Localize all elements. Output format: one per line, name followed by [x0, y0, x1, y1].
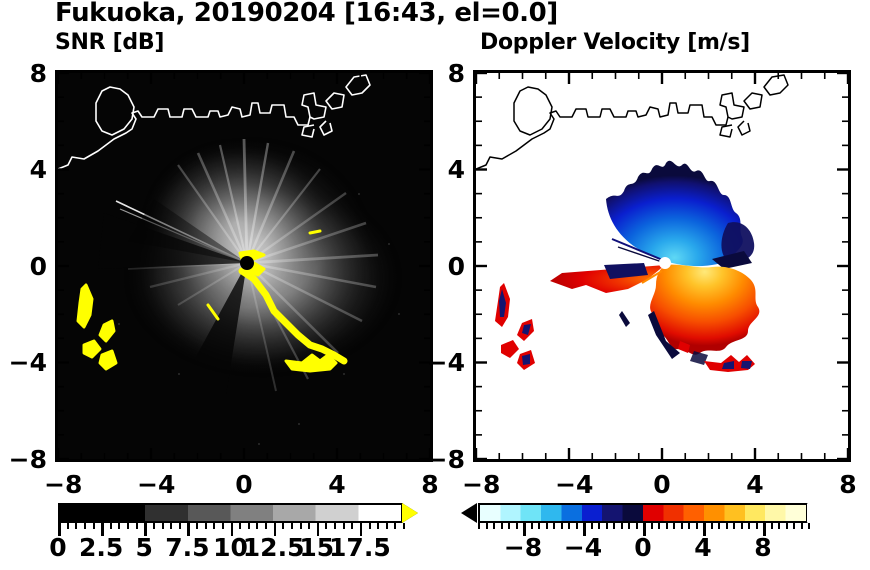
cb-minor-tick	[222, 523, 224, 529]
y-tick-doppler-−8: −8	[427, 445, 465, 474]
cb-minor-tick	[748, 523, 750, 529]
cb-minor-tick	[793, 523, 795, 529]
cb-minor-tick	[325, 523, 327, 529]
radar-site-marker-doppler	[659, 257, 671, 269]
cb-minor-tick	[403, 523, 405, 529]
x-tick-snr-8: 8	[421, 470, 438, 499]
snr-plot-area	[58, 73, 430, 459]
cb-minor-tick	[248, 523, 250, 529]
cb-minor-tick	[531, 523, 533, 529]
cb-minor-tick	[553, 523, 555, 529]
doppler-plot-area	[476, 73, 848, 459]
cb-minor-tick	[170, 523, 172, 529]
y-tick-snr-0: 0	[30, 252, 47, 281]
cb-minor-tick	[591, 523, 593, 529]
cb-minor-tick	[613, 523, 615, 529]
cb-minor-tick	[377, 523, 379, 529]
cb-minor-tick	[771, 523, 773, 529]
cb-minor-tick	[179, 523, 181, 529]
x-tick-doppler--8: −8	[462, 470, 500, 499]
cb-minor-tick	[718, 523, 720, 529]
cb-minor-tick	[93, 523, 95, 529]
cb-minor-tick	[308, 523, 310, 529]
snr-field	[58, 73, 430, 459]
cb-minor-tick	[673, 523, 675, 529]
doppler-colorbar-label: 4	[694, 533, 711, 562]
snr-colorbar-gradient	[58, 503, 403, 523]
cb-minor-tick	[628, 523, 630, 529]
y-tick-doppler-0: 0	[448, 252, 465, 281]
cb-minor-tick	[162, 523, 164, 529]
doppler-plot-panel[interactable]	[473, 70, 851, 462]
cb-minor-tick	[651, 523, 653, 529]
cb-minor-tick	[213, 523, 215, 529]
cb-minor-tick	[681, 523, 683, 529]
cb-minor-tick	[696, 523, 698, 529]
snr-colorbar-label: 0	[49, 533, 66, 562]
cb-minor-tick	[733, 523, 735, 529]
doppler-colorbar-label: −4	[564, 533, 602, 562]
cb-minor-tick	[351, 523, 353, 529]
cb-minor-tick	[386, 523, 388, 529]
snr-colorbar-label: 7.5	[165, 533, 209, 562]
cb-minor-tick	[808, 523, 810, 529]
snr-colorbar-over-arrow	[402, 503, 418, 523]
cb-minor-tick	[636, 523, 638, 529]
x-tick-doppler-8: 8	[839, 470, 856, 499]
doppler-colorbar-label: −8	[504, 533, 542, 562]
radar-site-marker	[240, 256, 254, 270]
cb-minor-tick	[546, 523, 548, 529]
x-tick-doppler-4: 4	[746, 470, 763, 499]
y-tick-snr-−8: −8	[9, 445, 47, 474]
snr-colorbar-label: 2.5	[79, 533, 123, 562]
cb-minor-tick	[486, 523, 488, 529]
cb-minor-tick	[741, 523, 743, 529]
cb-minor-tick	[205, 523, 207, 529]
doppler-colorbar-label: 8	[754, 533, 771, 562]
cb-minor-tick	[239, 523, 241, 529]
cb-minor-tick	[568, 523, 570, 529]
cb-minor-tick	[756, 523, 758, 529]
doppler-colorbar-gradient	[478, 503, 808, 523]
y-tick-doppler-8: 8	[448, 59, 465, 88]
doppler-field	[476, 73, 848, 459]
x-tick-doppler--4: −4	[555, 470, 593, 499]
cb-minor-tick	[265, 523, 267, 529]
y-tick-snr-8: 8	[30, 59, 47, 88]
cb-minor-tick	[118, 523, 120, 529]
doppler-colorbar-over-arrow	[807, 503, 823, 523]
cb-minor-tick	[598, 523, 600, 529]
cb-minor-tick	[67, 523, 69, 529]
cb-minor-tick	[291, 523, 293, 529]
cb-minor-tick	[478, 523, 480, 529]
doppler-colorbar-under-arrow	[461, 503, 477, 523]
cb-minor-tick	[127, 523, 129, 529]
cb-minor-tick	[369, 523, 371, 529]
cb-minor-tick	[621, 523, 623, 529]
cb-minor-tick	[561, 523, 563, 529]
cb-minor-tick	[606, 523, 608, 529]
cb-minor-tick	[256, 523, 258, 529]
cb-minor-tick	[282, 523, 284, 529]
y-tick-snr-−4: −4	[9, 348, 47, 377]
panel-title-doppler: Doppler Velocity [m/s]	[480, 30, 750, 55]
cb-minor-tick	[300, 523, 302, 529]
cb-minor-tick	[801, 523, 803, 529]
snr-colorbar-label: 12.5	[243, 533, 305, 562]
doppler-colorbar-label: 0	[634, 533, 651, 562]
cb-minor-tick	[516, 523, 518, 529]
cb-minor-tick	[493, 523, 495, 529]
cb-minor-tick	[343, 523, 345, 529]
x-tick-doppler-0: 0	[653, 470, 670, 499]
y-tick-doppler-−4: −4	[427, 348, 465, 377]
x-tick-snr--4: −4	[137, 470, 175, 499]
cb-minor-tick	[711, 523, 713, 529]
x-tick-snr--8: −8	[44, 470, 82, 499]
y-tick-doppler-4: 4	[448, 155, 465, 184]
doppler-colorbar[interactable]	[478, 503, 808, 525]
cb-minor-tick	[75, 523, 77, 529]
panel-title-snr: SNR [dB]	[55, 30, 164, 55]
cb-minor-tick	[394, 523, 396, 529]
cb-minor-tick	[136, 523, 138, 529]
cb-minor-tick	[538, 523, 540, 529]
cb-minor-tick	[508, 523, 510, 529]
cb-minor-tick	[778, 523, 780, 529]
cb-minor-tick	[658, 523, 660, 529]
page-title: Fukuoka, 20190204 [16:43, el=0.0]	[55, 0, 558, 28]
cb-minor-tick	[688, 523, 690, 529]
cb-minor-tick	[110, 523, 112, 529]
snr-colorbar[interactable]	[58, 503, 403, 525]
snr-colorbar-label: 5	[136, 533, 153, 562]
y-tick-snr-4: 4	[30, 155, 47, 184]
cb-minor-tick	[501, 523, 503, 529]
cb-minor-tick	[576, 523, 578, 529]
x-tick-snr-0: 0	[235, 470, 252, 499]
cb-minor-tick	[786, 523, 788, 529]
cb-minor-tick	[196, 523, 198, 529]
cb-minor-tick	[666, 523, 668, 529]
cb-minor-tick	[153, 523, 155, 529]
cb-minor-tick	[726, 523, 728, 529]
cb-minor-tick	[334, 523, 336, 529]
snr-plot-panel[interactable]	[55, 70, 433, 462]
x-tick-snr-4: 4	[328, 470, 345, 499]
snr-colorbar-label: 17.5	[329, 533, 391, 562]
cb-minor-tick	[84, 523, 86, 529]
